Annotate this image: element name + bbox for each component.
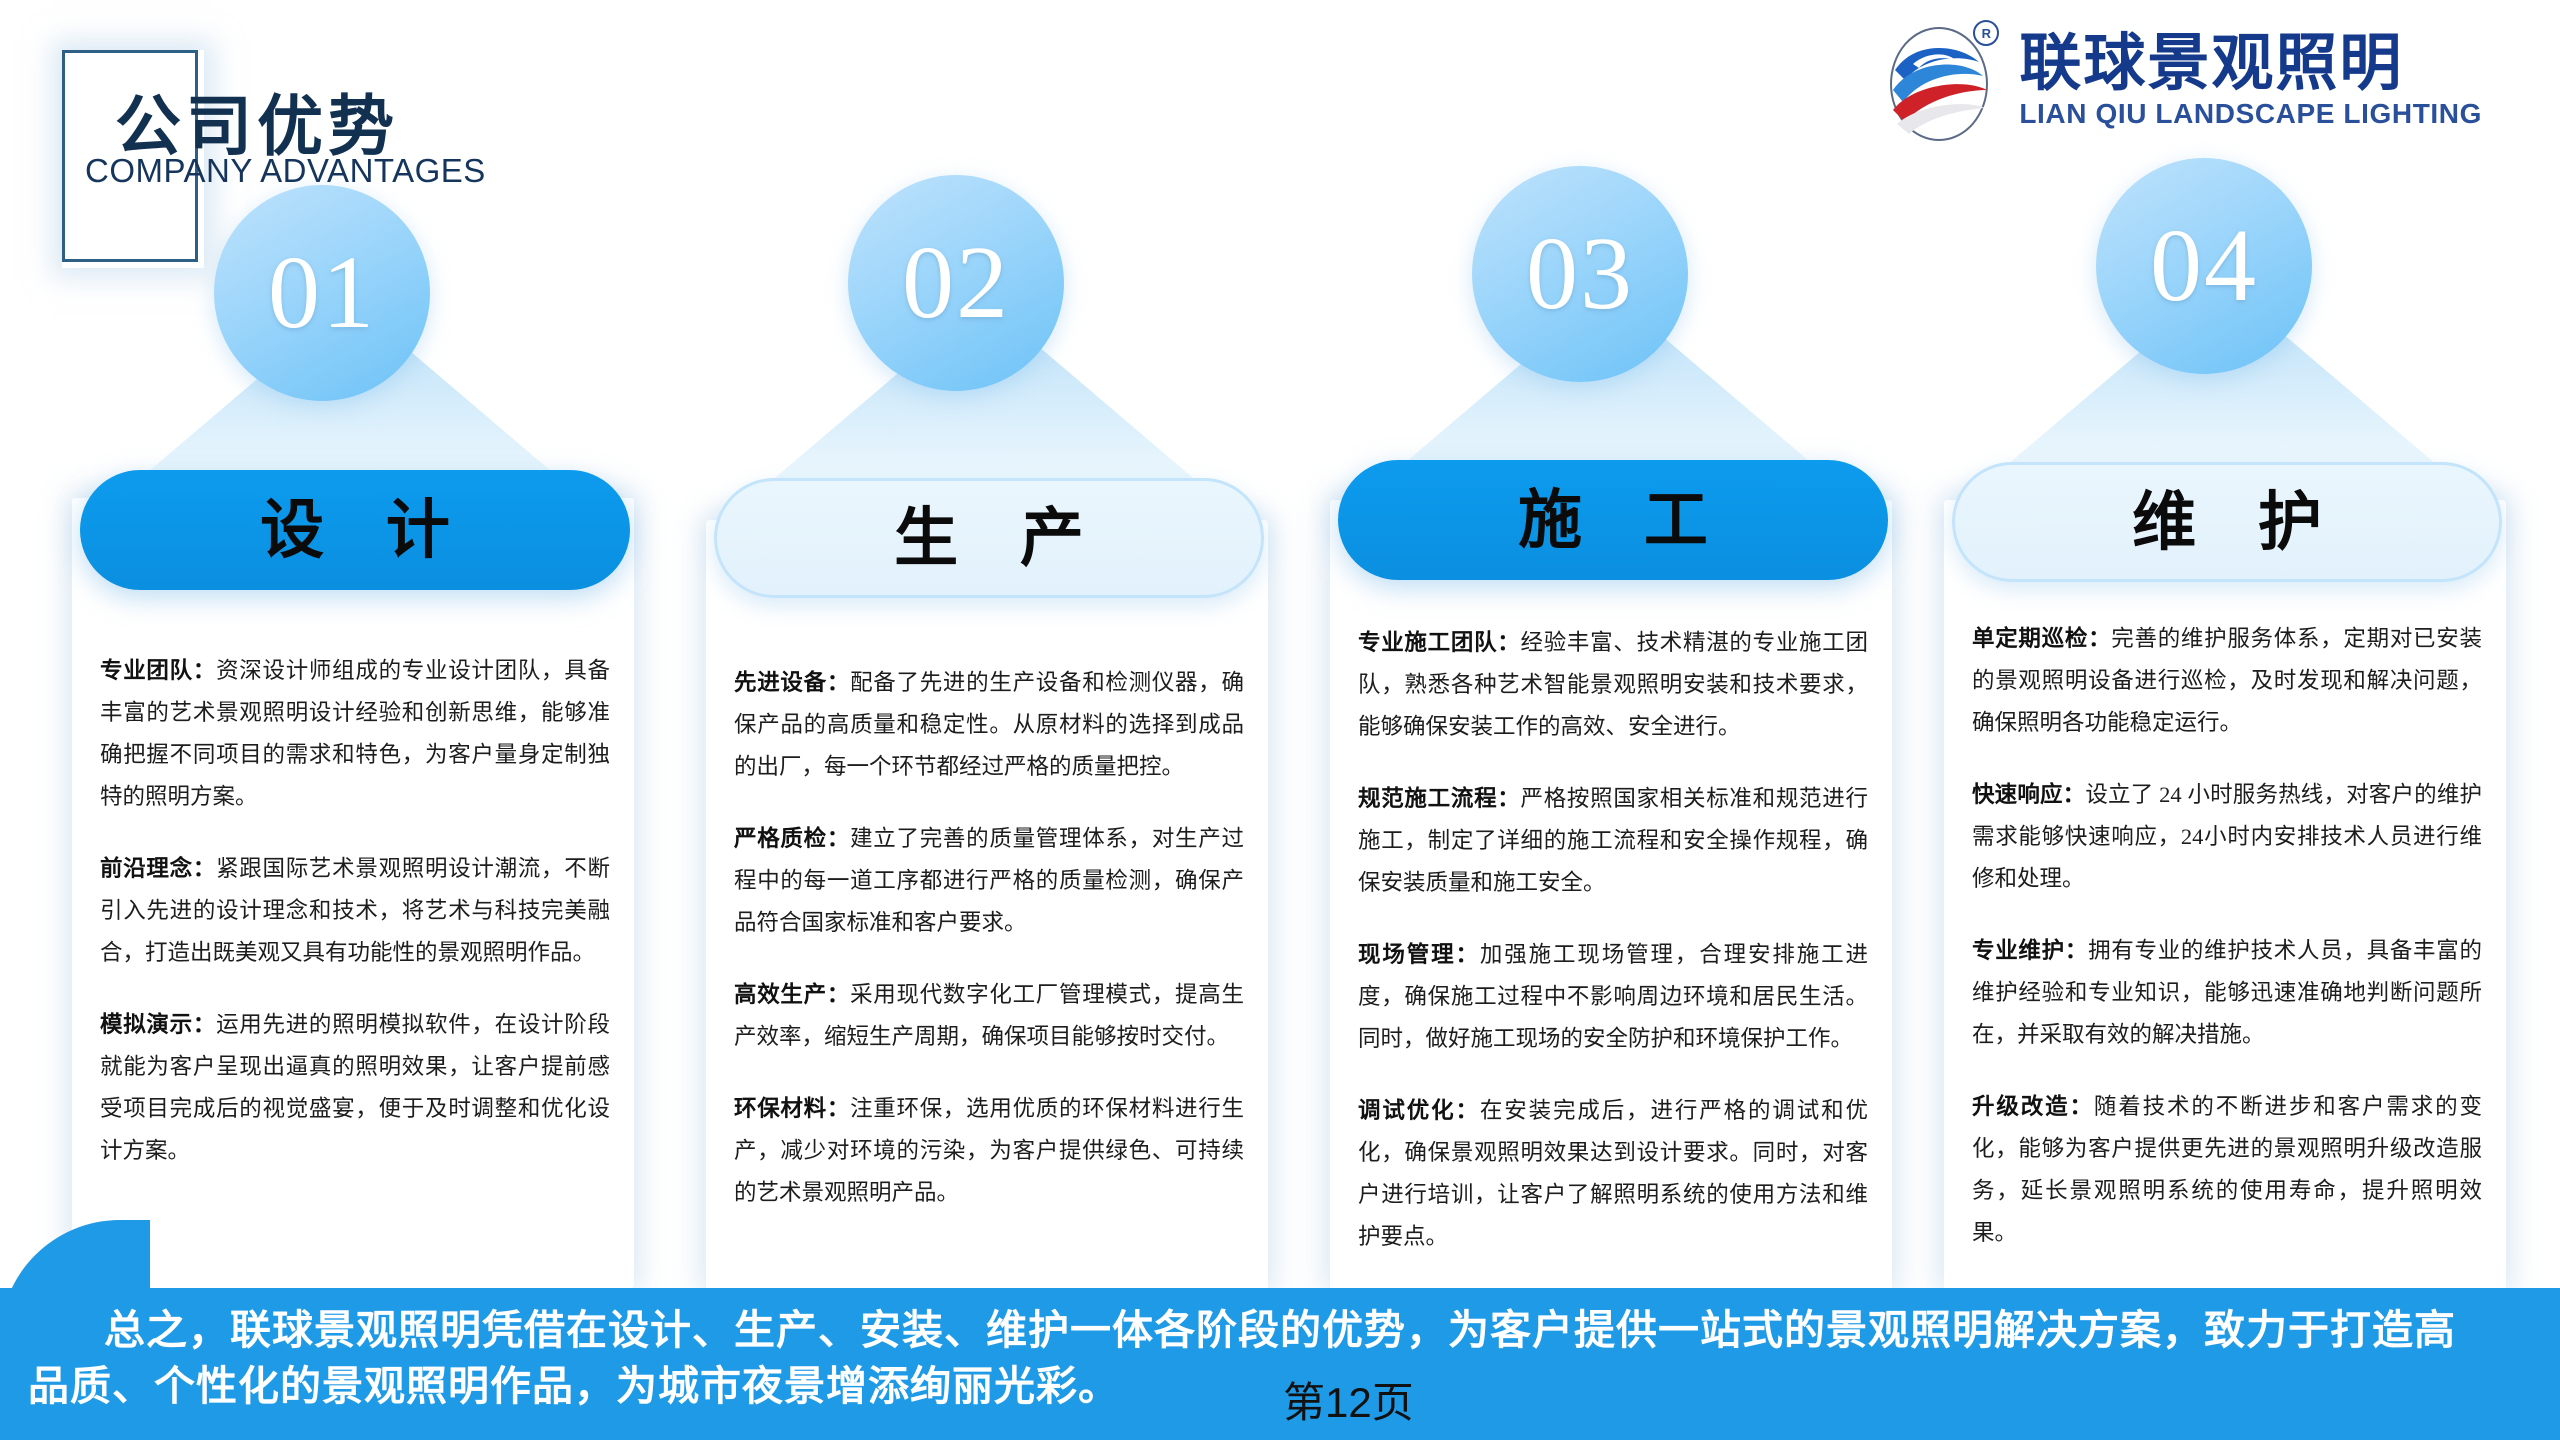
item-term: 调试优化： [1358,1098,1480,1123]
advantage-column-1: 01 设 计 专业团队：资深设计师组成的专业设计团队，具备丰富的艺术景观照明设计… [60,0,645,1340]
step-number-circle: 01 [214,185,430,401]
footer-summary: 总之，联球景观照明凭借在设计、生产、安装、维护一体各阶段的优势，为客户提供一站式… [0,1302,2510,1414]
advantage-column-2: 02 生 产 先进设备：配备了先进的生产设备和检测仪器，确保产品的高质量和稳定性… [694,0,1279,1340]
step-number-circle: 02 [848,175,1064,391]
body-item: 严格质检：建立了完善的质量管理体系，对生产过程中的每一道工序都进行严格的质量检测… [734,818,1244,944]
stage-pill-label: 设 计 [238,498,472,562]
step-number: 01 [268,241,376,345]
item-term: 单定期巡检： [1972,626,2111,651]
column-body-1: 专业团队：资深设计师组成的专业设计团队，具备丰富的艺术景观照明设计经验和创新思维… [100,650,610,1172]
item-term: 严格质检： [734,826,850,851]
body-item: 前沿理念：紧跟国际艺术景观照明设计潮流，不断引入先进的设计理念和技术，将艺术与科… [100,848,610,974]
advantage-column-4: 04 维 护 单定期巡检：完善的维护服务体系，定期对已安装的景观照明设备进行巡检… [1932,0,2517,1340]
stage-pill-label: 施 工 [1496,488,1730,552]
stage-pill-production[interactable]: 生 产 [714,478,1264,598]
item-term: 现场管理： [1358,942,1480,967]
page-subtitle: COMPANY ADVANTAGES [85,152,486,190]
item-term: 前沿理念： [100,856,216,881]
body-item: 规范施工流程：严格按照国家相关标准和规范进行施工，制定了详细的施工流程和安全操作… [1358,778,1868,904]
item-term: 高效生产： [734,982,850,1007]
stage-pill-label: 维 护 [2110,490,2344,554]
item-term: 专业维护： [1972,938,2088,963]
advantage-columns: 01 设 计 专业团队：资深设计师组成的专业设计团队，具备丰富的艺术景观照明设计… [0,0,2560,1440]
item-term: 模拟演示： [100,1012,216,1037]
body-item: 专业施工团队：经验丰富、技术精湛的专业施工团队，熟悉各种艺术智能景观照明安装和技… [1358,622,1868,748]
step-number: 04 [2150,214,2258,318]
step-number-circle: 03 [1472,166,1688,382]
column-body-3: 专业施工团队：经验丰富、技术精湛的专业施工团队，熟悉各种艺术智能景观照明安装和技… [1358,622,1868,1258]
slide-root: 公司优势 COMPANY ADVANTAGES R 联球景观照明 LIAN QI… [0,0,2560,1440]
body-item: 先进设备：配备了先进的生产设备和检测仪器，确保产品的高质量和稳定性。从原材料的选… [734,662,1244,788]
body-item: 调试优化：在安装完成后，进行严格的调试和优化，确保景观照明效果达到设计要求。同时… [1358,1090,1868,1258]
body-item: 专业维护：拥有专业的维护技术人员，具备丰富的维护经验和专业知识，能够迅速准确地判… [1972,930,2482,1056]
body-item: 单定期巡检：完善的维护服务体系，定期对已安装的景观照明设备进行巡检，及时发现和解… [1972,618,2482,744]
footer-summary-text: 总之，联球景观照明凭借在设计、生产、安装、维护一体各阶段的优势，为客户提供一站式… [28,1307,2456,1409]
stage-pill-construction[interactable]: 施 工 [1338,460,1888,580]
body-item: 快速响应：设立了 24 小时服务热线，对客户的维护需求能够快速响应，24小时内安… [1972,774,2482,900]
stage-pill-label: 生 产 [872,506,1106,570]
body-item: 专业团队：资深设计师组成的专业设计团队，具备丰富的艺术景观照明设计经验和创新思维… [100,650,610,818]
step-number-circle: 04 [2096,158,2312,374]
item-term: 规范施工流程： [1358,786,1521,811]
footer-banner: 总之，联球景观照明凭借在设计、生产、安装、维护一体各阶段的优势，为客户提供一站式… [0,1288,2560,1440]
column-body-4: 单定期巡检：完善的维护服务体系，定期对已安装的景观照明设备进行巡检，及时发现和解… [1972,618,2482,1254]
stage-pill-design[interactable]: 设 计 [80,470,630,590]
column-body-2: 先进设备：配备了先进的生产设备和检测仪器，确保产品的高质量和稳定性。从原材料的选… [734,662,1244,1214]
step-number: 03 [1526,222,1634,326]
stage-pill-maintenance[interactable]: 维 护 [1952,462,2502,582]
body-item: 模拟演示：运用先进的照明模拟软件，在设计阶段就能为客户呈现出逼真的照明效果，让客… [100,1004,610,1172]
body-item: 升级改造：随着技术的不断进步和客户需求的变化，能够为客户提供更先进的景观照明升级… [1972,1086,2482,1254]
item-term: 专业施工团队： [1358,630,1521,655]
item-term: 环保材料： [734,1096,850,1121]
step-number: 02 [902,231,1010,335]
item-term: 快速响应： [1972,782,2085,807]
body-item: 高效生产：采用现代数字化工厂管理模式，提高生产效率，缩短生产周期，确保项目能够按… [734,974,1244,1058]
advantage-column-3: 03 施 工 专业施工团队：经验丰富、技术精湛的专业施工团队，熟悉各种艺术智能景… [1318,0,1903,1340]
body-item: 环保材料：注重环保，选用优质的环保材料进行生产，减少对环境的污染，为客户提供绿色… [734,1088,1244,1214]
item-term: 升级改造： [1972,1094,2094,1119]
body-item: 现场管理：加强施工现场管理，合理安排施工进度，确保施工过程中不影响周边环境和居民… [1358,934,1868,1060]
item-term: 专业团队： [100,658,216,683]
page-number: 第12页 [1283,1369,1414,1430]
item-term: 先进设备： [734,670,850,695]
